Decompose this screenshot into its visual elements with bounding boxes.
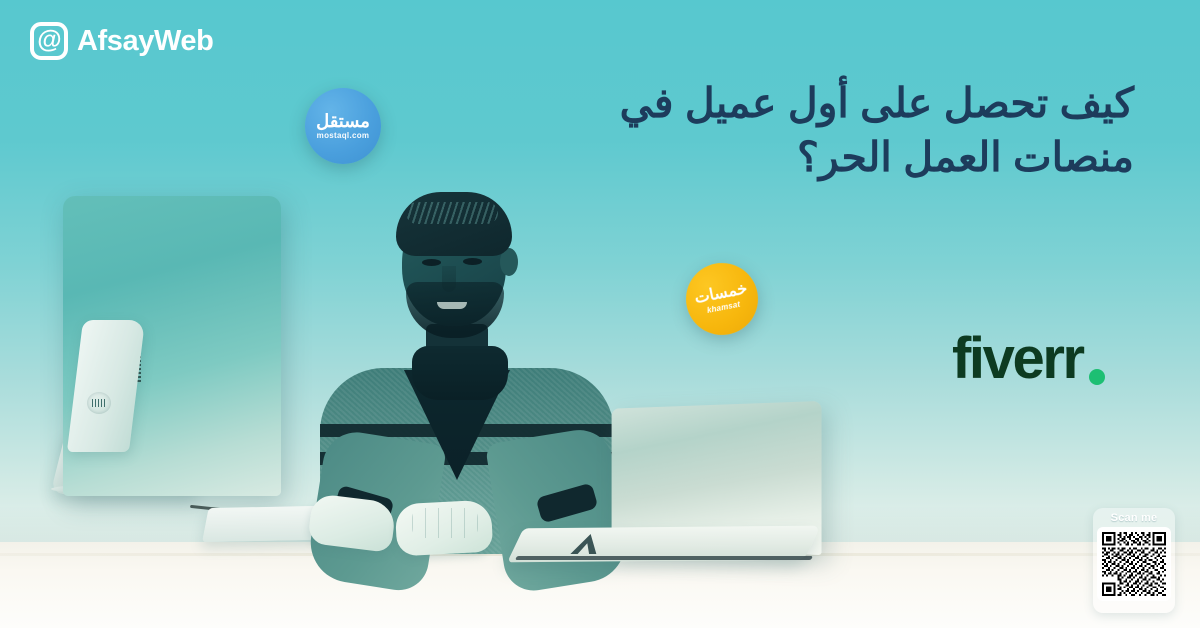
person-nose xyxy=(442,266,456,292)
person-hair xyxy=(396,192,512,256)
mostaql-arabic-label: مستقل xyxy=(316,112,370,130)
laptop-base-edge xyxy=(515,556,813,560)
platform-badge-khamsat[interactable]: خمسات khamsat xyxy=(680,257,764,341)
site-logo[interactable]: @ AfsayWeb xyxy=(30,22,213,60)
finger-detail xyxy=(412,508,478,538)
fiverr-wordmark: fiverr xyxy=(952,325,1083,392)
desktop-monitor xyxy=(63,196,281,496)
person-eye-right xyxy=(463,258,482,265)
mostaql-latin-label: mostaql.com xyxy=(317,131,370,140)
person-eye-left xyxy=(422,259,441,266)
laptop-computer xyxy=(508,405,838,580)
person-mouth xyxy=(437,302,467,309)
qr-code-card[interactable]: Scan me xyxy=(1093,508,1175,613)
monitor-stand-cable-hole xyxy=(87,392,111,414)
person-beard xyxy=(406,282,504,338)
at-sign-icon: @ xyxy=(30,22,68,60)
qr-code-icon xyxy=(1102,532,1166,596)
qr-code-box xyxy=(1097,527,1171,601)
platform-logo-fiverr[interactable]: fiverr xyxy=(952,325,1105,392)
site-logo-text: AfsayWeb xyxy=(77,25,213,58)
fiverr-dot-icon xyxy=(1089,369,1105,385)
page-title: كيف تحصل على أول عميل في منصات العمل الح… xyxy=(494,76,1134,184)
turtleneck-collar xyxy=(412,346,508,400)
qr-scan-label: Scan me xyxy=(1111,512,1158,524)
platform-badge-mostaql[interactable]: مستقل mostaql.com xyxy=(305,88,381,164)
at-sign-glyph: @ xyxy=(37,28,60,53)
promo-banner: @ AfsayWeb كيف تحصل على أول عميل في منصا… xyxy=(0,0,1200,628)
